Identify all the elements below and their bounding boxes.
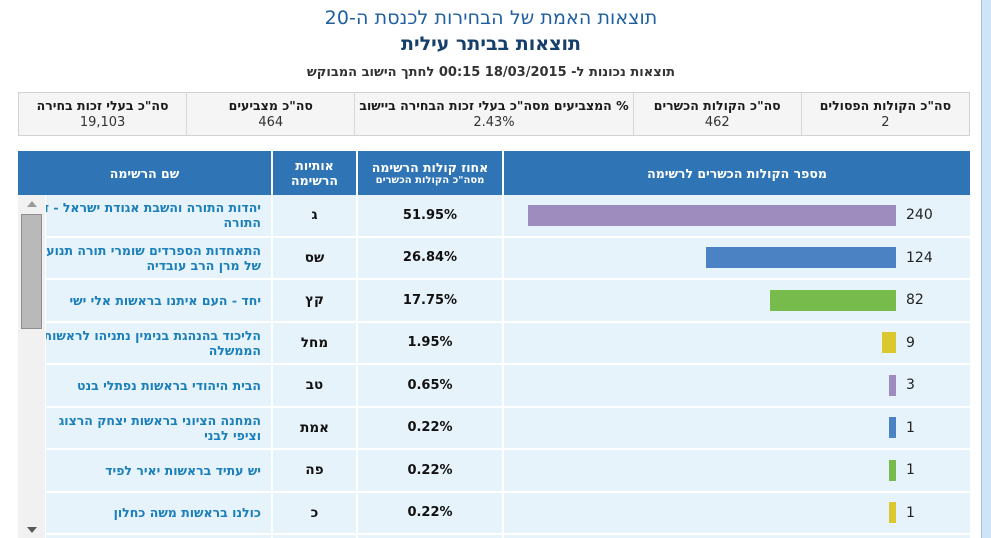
vote-bar <box>528 205 896 226</box>
stat-value: 462 <box>705 115 730 131</box>
bar-track <box>504 280 896 321</box>
stat-label: סה"כ הקולות הכשרים <box>654 98 781 113</box>
list-name-link[interactable]: המחנה הציוני בראשות יצחק הרצוג וציפי לבנ… <box>28 413 261 443</box>
cell-percent: 0.22% <box>356 408 502 449</box>
stat-value: 19,103 <box>80 115 126 131</box>
vote-count: 1 <box>896 505 970 521</box>
cell-percent: 0.22% <box>356 450 502 491</box>
bar-track <box>504 323 896 364</box>
cell-votes-bar: 240 <box>502 195 970 236</box>
results-timestamp: תוצאות נכונות ל- 18/03/2015 00:15 לחתך ה… <box>0 65 982 81</box>
cell-votes-bar: 1 <box>502 493 970 534</box>
cell-list-name[interactable]: יחד - העם איתנו בראשות אלי ישי <box>18 280 271 321</box>
column-header-list-name: שם הרשימה <box>18 151 271 195</box>
stat-invalid-votes: סה"כ הקולות הפסולים 2 <box>801 93 969 135</box>
cell-percent: 51.95% <box>356 195 502 236</box>
table-body-viewport: 24051.95%גיהדות התורה והשבת אגודת ישראל … <box>18 195 970 538</box>
table-row: 10.22%אמתהמחנה הציוני בראשות יצחק הרצוג … <box>18 408 970 449</box>
page-title: תוצאות האמת של הבחירות לכנסת ה-20 <box>0 7 982 29</box>
stat-label: סה"כ הקולות הפסולים <box>820 98 951 113</box>
scrollbar-thumb[interactable] <box>21 214 42 329</box>
bar-track <box>504 195 896 236</box>
cell-list-letters: כ <box>271 493 356 534</box>
cell-percent: 0.65% <box>356 365 502 406</box>
stat-turnout-percent: % המצביעים מסה"כ בעלי זכות הבחירה ביישוב… <box>354 93 632 135</box>
vote-bar <box>889 417 896 438</box>
cell-list-letters: אמת <box>271 408 356 449</box>
page-header: תוצאות האמת של הבחירות לכנסת ה-20 תוצאות… <box>0 0 982 81</box>
cell-votes-bar: 124 <box>502 238 970 279</box>
vote-count: 1 <box>896 420 970 436</box>
vote-count: 3 <box>896 377 970 393</box>
table-row: 8217.75%קץיחד - העם איתנו בראשות אלי ישי <box>18 280 970 321</box>
caret-down-icon <box>27 527 37 533</box>
stat-value: 464 <box>258 115 283 131</box>
right-edge-strip <box>981 0 991 538</box>
stat-label: סה"כ מצביעים <box>229 98 313 113</box>
bar-track <box>504 408 896 449</box>
vertical-scrollbar[interactable] <box>18 195 46 538</box>
cell-votes-bar: 1 <box>502 450 970 491</box>
cell-list-letters: טב <box>271 365 356 406</box>
vote-count: 1 <box>896 462 970 478</box>
stat-value: 2 <box>881 115 889 131</box>
cell-votes-bar: 82 <box>502 280 970 321</box>
summary-stats-bar: סה"כ הקולות הפסולים 2 סה"כ הקולות הכשרים… <box>18 92 970 136</box>
page-subtitle: תוצאות בביתר עילית <box>0 32 982 57</box>
cell-percent: 1.95% <box>356 323 502 364</box>
cell-list-letters: מחל <box>271 323 356 364</box>
vote-bar <box>882 332 896 353</box>
cell-percent: 0.22% <box>356 493 502 534</box>
vote-count: 124 <box>896 250 970 266</box>
vote-count: 240 <box>896 207 970 223</box>
cell-votes-bar: 1 <box>502 408 970 449</box>
stat-label: סה"כ בעלי זכות בחירה <box>37 98 169 113</box>
list-name-link[interactable]: יש עתיד בראשות יאיר לפיד <box>28 463 261 478</box>
vote-bar <box>889 375 896 396</box>
table-row: 91.95%מחלהליכוד בהנהגת בנימין נתניהו לרא… <box>18 323 970 364</box>
table-row: 24051.95%גיהדות התורה והשבת אגודת ישראל … <box>18 195 970 236</box>
cell-list-name[interactable]: יהדות התורה והשבת אגודת ישראל - דגל התור… <box>18 195 271 236</box>
stat-total-voters: סה"כ מצביעים 464 <box>186 93 354 135</box>
table-row: 10.22%פהיש עתיד בראשות יאיר לפיד <box>18 450 970 491</box>
table-header-row: מספר הקולות הכשרים לרשימה אחוז קולות הרש… <box>18 151 970 195</box>
stat-value: 2.43% <box>473 115 514 131</box>
table-row: 30.65%טבהבית היהודי בראשות נפתלי בנט <box>18 365 970 406</box>
table-rows-container: 24051.95%גיהדות התורה והשבת אגודת ישראל … <box>18 195 970 538</box>
vote-bar <box>889 502 896 523</box>
cell-list-letters: שס <box>271 238 356 279</box>
cell-list-name[interactable]: הליכוד בהנהגת בנימין נתניהו לראשות הממשל… <box>18 323 271 364</box>
cell-votes-bar: 9 <box>502 323 970 364</box>
cell-list-letters: פה <box>271 450 356 491</box>
table-row: 10.22%ככולנו בראשות משה כחלון <box>18 493 970 534</box>
caret-up-icon <box>27 201 37 207</box>
scroll-down-button[interactable] <box>18 521 45 538</box>
cell-votes-bar: 3 <box>502 365 970 406</box>
vote-count: 9 <box>896 335 970 351</box>
column-header-percent: אחוז קולות הרשימה מסה"כ הקולות הכשרים <box>356 151 502 195</box>
table-row: 12426.84%שסהתאחדות הספרדים שומרי תורה תנ… <box>18 238 970 279</box>
bar-track <box>504 450 896 491</box>
list-name-link[interactable]: כולנו בראשות משה כחלון <box>28 505 261 520</box>
cell-list-name[interactable]: המחנה הציוני בראשות יצחק הרצוג וציפי לבנ… <box>18 408 271 449</box>
vote-count: 82 <box>896 292 970 308</box>
bar-track <box>504 493 896 534</box>
stat-eligible-voters: סה"כ בעלי זכות בחירה 19,103 <box>19 93 186 135</box>
cell-list-letters: ג <box>271 195 356 236</box>
list-name-link[interactable]: הליכוד בהנהגת בנימין נתניהו לראשות הממשל… <box>28 328 261 358</box>
scroll-up-button[interactable] <box>18 195 45 212</box>
list-name-link[interactable]: הבית היהודי בראשות נפתלי בנט <box>28 378 261 393</box>
list-name-link[interactable]: יחד - העם איתנו בראשות אלי ישי <box>28 293 261 308</box>
cell-list-name[interactable]: התאחדות הספרדים שומרי תורה תנועתו של מרן… <box>18 238 271 279</box>
cell-list-letters: קץ <box>271 280 356 321</box>
cell-percent: 26.84% <box>356 238 502 279</box>
bar-track <box>504 238 896 279</box>
cell-list-name[interactable]: יש עתיד בראשות יאיר לפיד <box>18 450 271 491</box>
results-table: מספר הקולות הכשרים לרשימה אחוז קולות הרש… <box>18 151 970 538</box>
cell-percent: 17.75% <box>356 280 502 321</box>
cell-list-name[interactable]: הבית היהודי בראשות נפתלי בנט <box>18 365 271 406</box>
vote-bar <box>770 290 896 311</box>
list-name-link[interactable]: יהדות התורה והשבת אגודת ישראל - דגל התור… <box>28 200 261 230</box>
column-header-votes-bars: מספר הקולות הכשרים לרשימה <box>502 151 970 195</box>
column-header-letters: אותיות הרשימה <box>271 151 356 195</box>
stat-label: % המצביעים מסה"כ בעלי זכות הבחירה ביישוב <box>359 98 628 113</box>
vote-bar <box>706 247 896 268</box>
vote-bar <box>889 460 896 481</box>
stat-valid-votes: סה"כ הקולות הכשרים 462 <box>633 93 801 135</box>
results-page: תוצאות האמת של הבחירות לכנסת ה-20 תוצאות… <box>0 0 982 538</box>
cell-list-name[interactable]: כולנו בראשות משה כחלון <box>18 493 271 534</box>
bar-track <box>504 365 896 406</box>
list-name-link[interactable]: התאחדות הספרדים שומרי תורה תנועתו של מרן… <box>28 243 261 273</box>
